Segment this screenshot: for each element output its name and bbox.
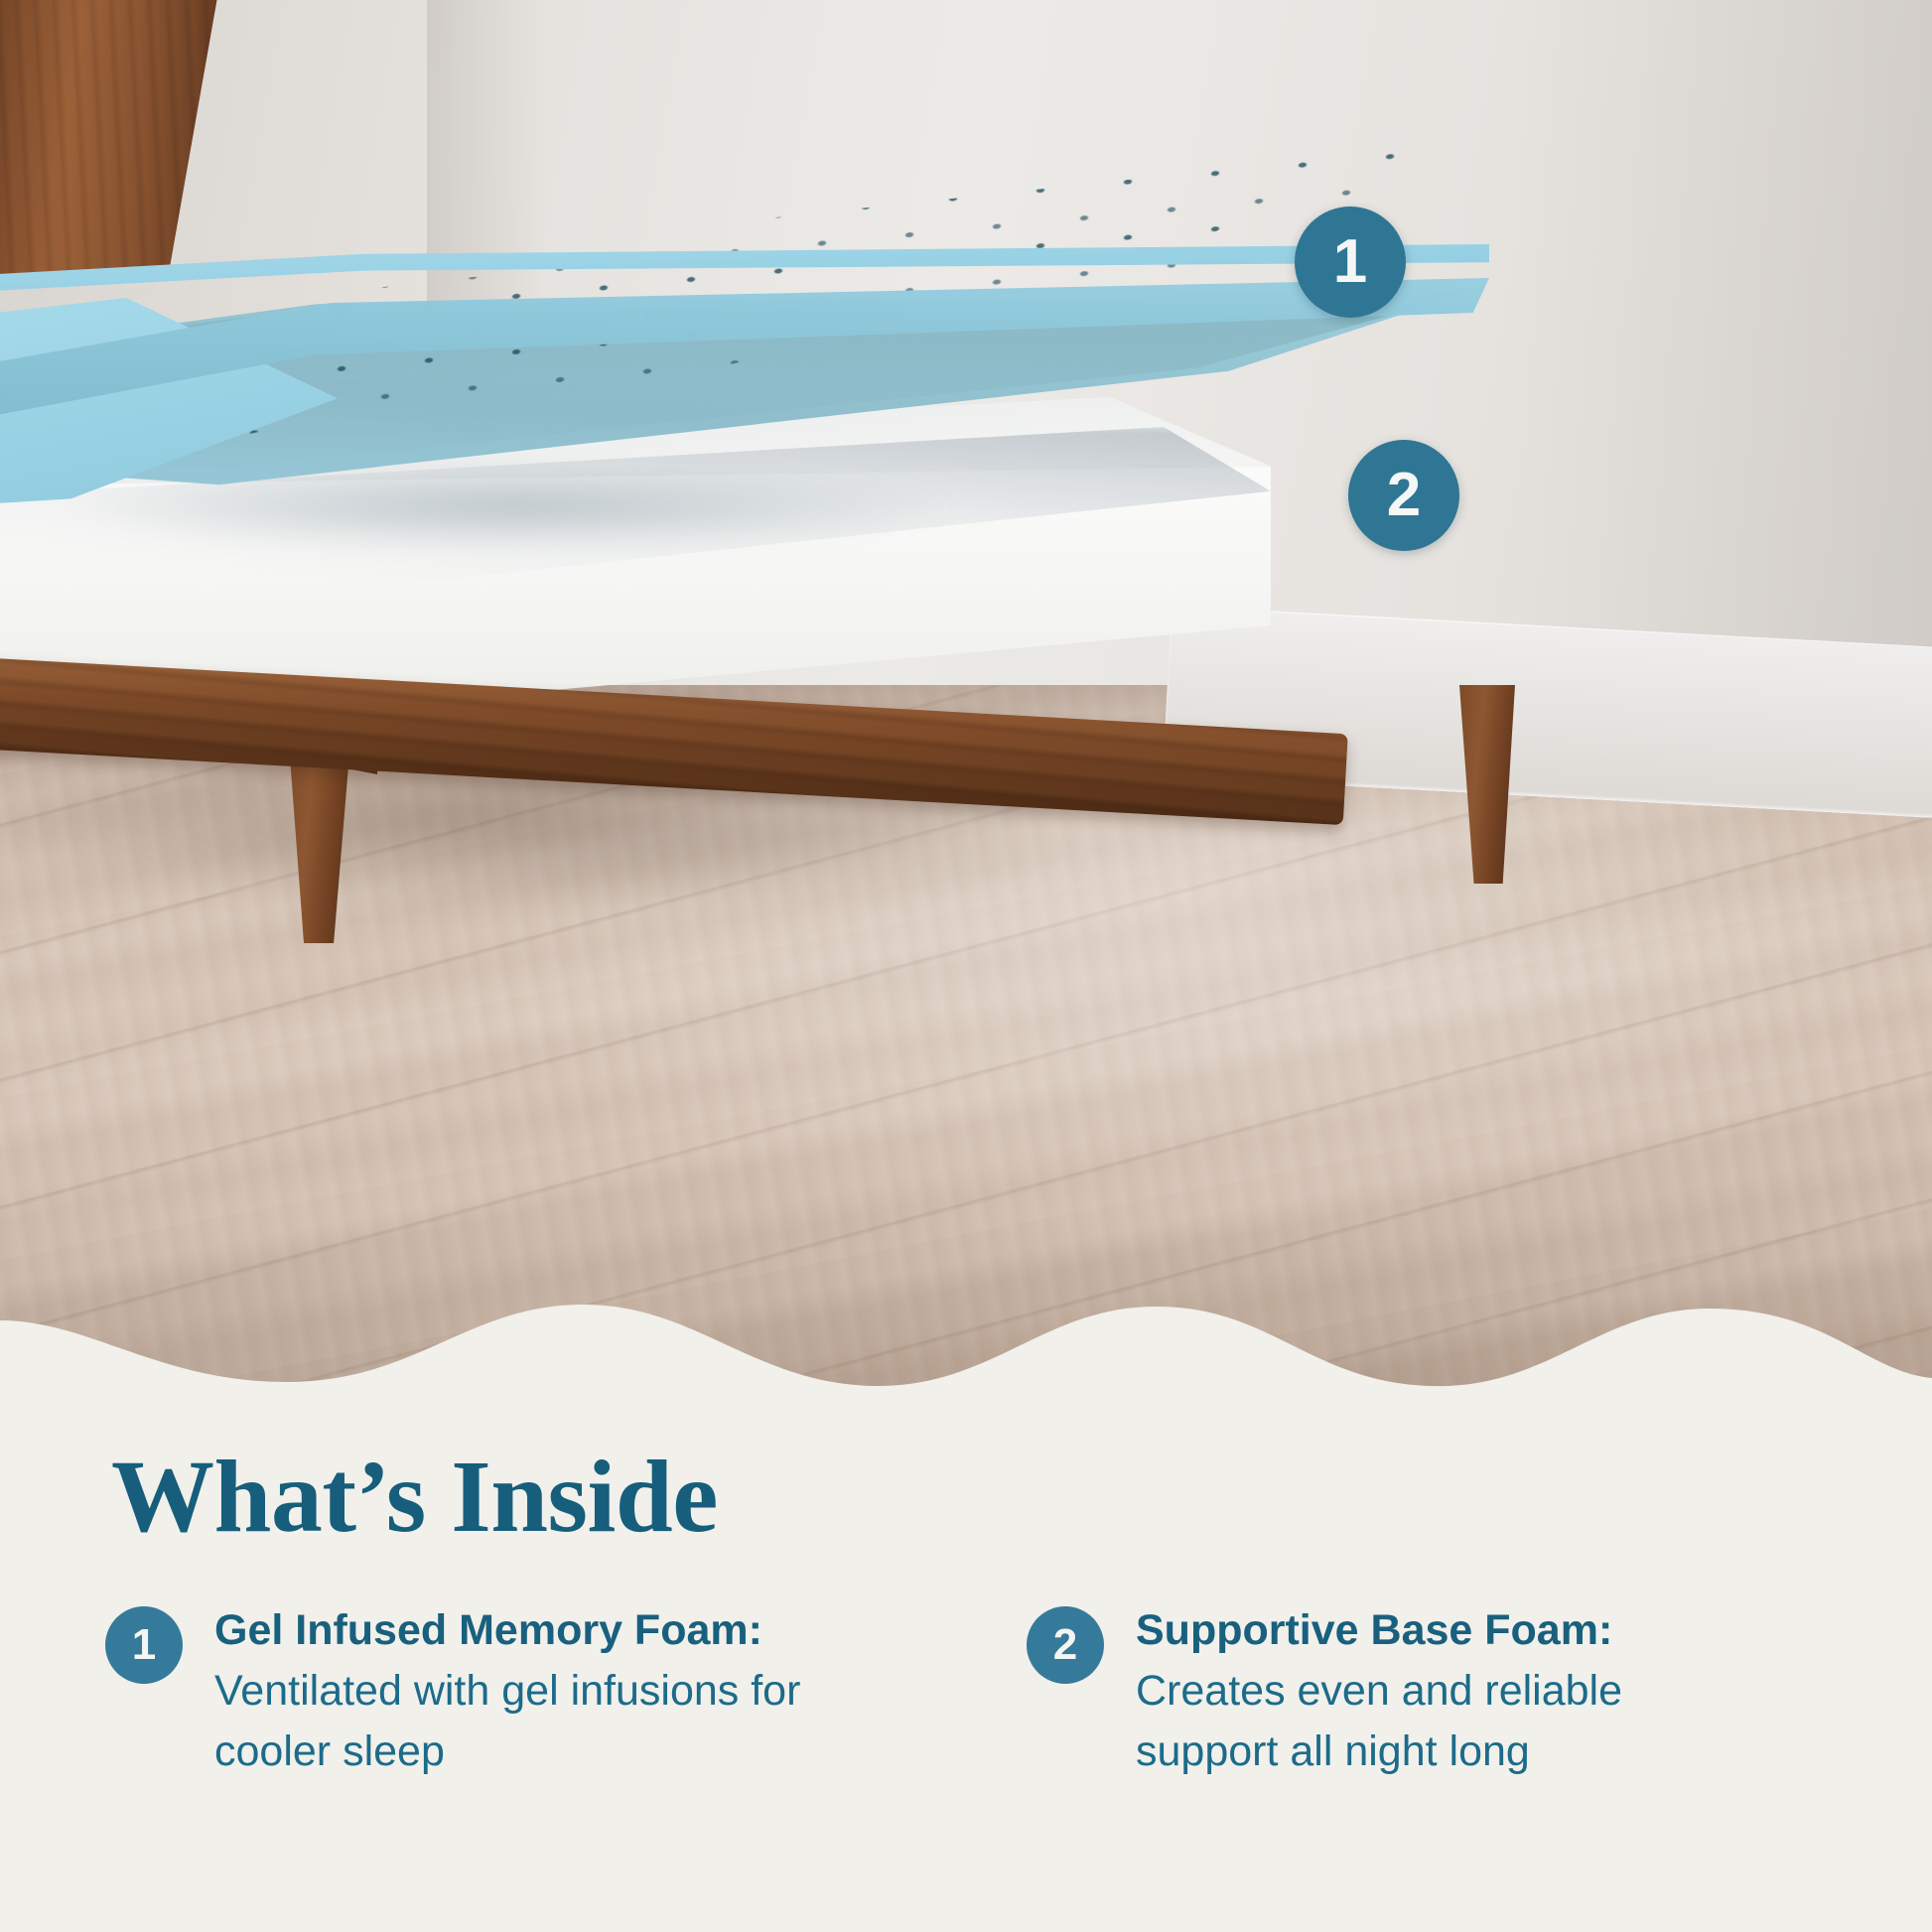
callout-badge-2-number: 2 [1387, 465, 1421, 526]
product-photo: 1 2 [0, 0, 1932, 1390]
whats-inside-panel: What’s Inside 1 Gel Infused Memory Foam:… [0, 1390, 1932, 1932]
feature-text-1: Gel Infused Memory Foam: Ventilated with… [214, 1600, 850, 1782]
feature-separator-1: : [749, 1606, 762, 1654]
callout-badge-2[interactable]: 2 [1348, 440, 1459, 551]
feature-badge-2-number: 2 [1053, 1623, 1077, 1667]
feature-label-2: Supportive Base Foam [1136, 1606, 1598, 1654]
feature-description-1: Ventilated with gel infusions for cooler… [214, 1667, 800, 1775]
feature-separator-2: : [1598, 1606, 1612, 1654]
feature-item-2: 2 Supportive Base Foam: Creates even and… [1027, 1600, 1841, 1782]
feature-badge-1: 1 [105, 1606, 183, 1684]
callout-badge-1-number: 1 [1333, 231, 1367, 293]
page-title: What’s Inside [111, 1445, 718, 1550]
feature-text-2: Supportive Base Foam: Creates even and r… [1136, 1600, 1771, 1782]
product-infographic: 1 2 What’s Inside 1 Gel Infused Memory F… [0, 0, 1932, 1932]
feature-label-1: Gel Infused Memory Foam [214, 1606, 749, 1654]
feature-item-1: 1 Gel Infused Memory Foam: Ventilated wi… [105, 1600, 919, 1782]
callout-badge-1[interactable]: 1 [1295, 207, 1406, 318]
feature-list: 1 Gel Infused Memory Foam: Ventilated wi… [0, 1600, 1932, 1782]
feature-badge-1-number: 1 [132, 1623, 156, 1667]
feature-description-2: Creates even and reliable support all ni… [1136, 1667, 1622, 1775]
feature-badge-2: 2 [1027, 1606, 1104, 1684]
